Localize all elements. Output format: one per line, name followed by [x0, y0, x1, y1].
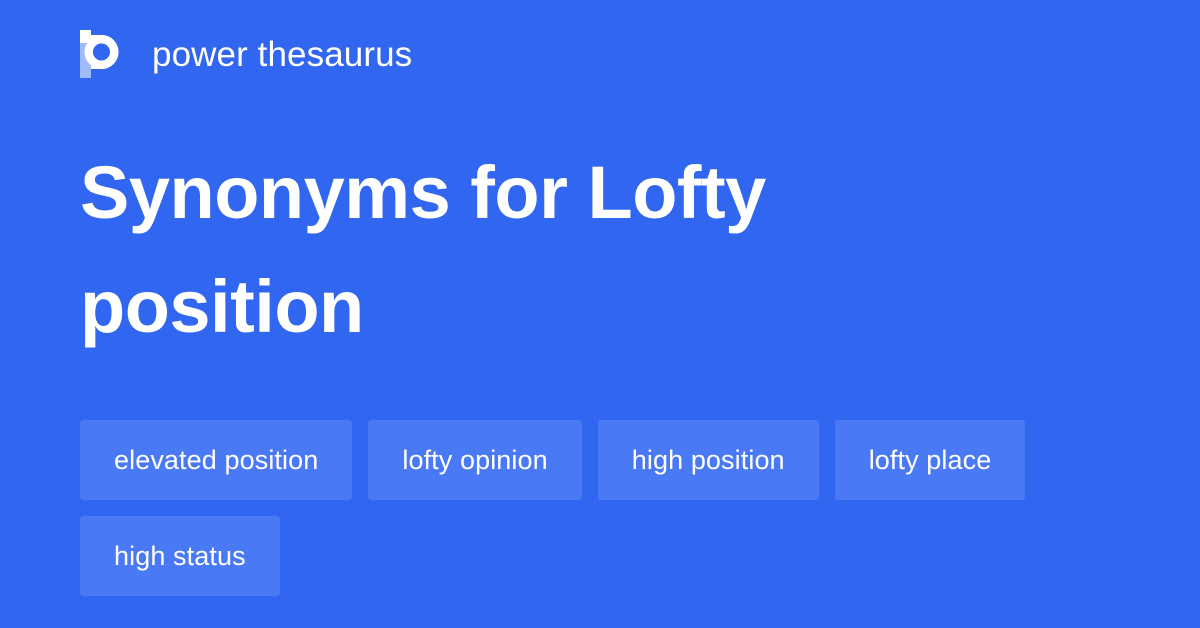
power-thesaurus-b-logo-icon: [80, 30, 124, 78]
brand-header[interactable]: power thesaurus: [80, 28, 412, 80]
synonym-chip[interactable]: lofty opinion: [368, 420, 581, 500]
page-title: Synonyms for Lofty position: [80, 136, 980, 364]
synonym-chip[interactable]: elevated position: [80, 420, 352, 500]
brand-name: power thesaurus: [152, 37, 412, 72]
share-card: power thesaurus Synonyms for Lofty posit…: [0, 0, 1200, 628]
synonym-chip[interactable]: high position: [598, 420, 819, 500]
synonym-chip[interactable]: high status: [80, 516, 280, 596]
synonym-chip[interactable]: lofty place: [835, 420, 1026, 500]
synonym-chip-list: elevated position lofty opinion high pos…: [80, 420, 1120, 596]
